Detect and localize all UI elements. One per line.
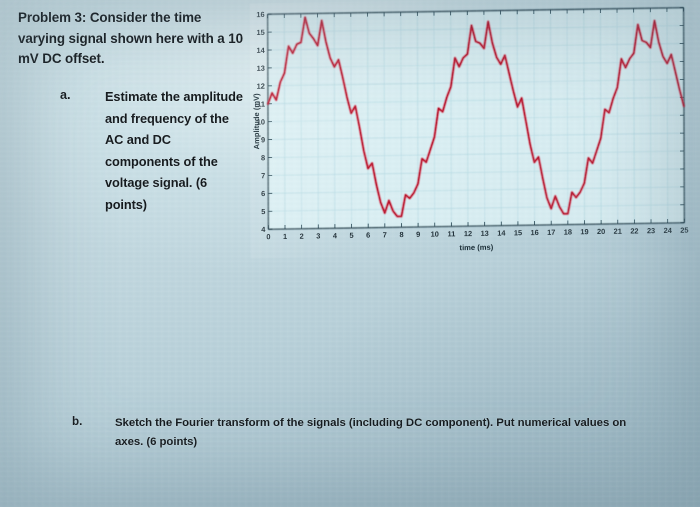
x-tick-label: 18 (564, 227, 572, 236)
x-tick-label: 1 (283, 232, 287, 241)
y-tick-label: 5 (261, 207, 265, 216)
x-tick-label: 2 (300, 232, 304, 241)
y-tick-label: 6 (261, 189, 265, 198)
x-tick-label: 0 (266, 232, 270, 241)
x-tick-label: 10 (431, 230, 439, 239)
x-tick-label: 4 (333, 231, 338, 240)
x-tick-label: 8 (399, 230, 403, 239)
x-tick-label: 24 (664, 226, 673, 235)
y-tick-label: 7 (261, 171, 265, 180)
y-tick-label: 14 (256, 46, 265, 55)
x-tick-label: 20 (597, 227, 605, 236)
x-tick-label: 14 (497, 228, 506, 237)
y-tick-label: 8 (261, 153, 265, 162)
y-tick-label: 16 (256, 10, 264, 19)
x-tick-label: 19 (580, 227, 588, 236)
x-tick-label: 21 (614, 227, 622, 236)
y-axis-title: Amplitude (mV) (252, 93, 261, 150)
y-tick-label: 9 (261, 135, 265, 144)
part-a-text: Estimate the amplitude and frequency of … (105, 86, 245, 215)
x-tick-label: 12 (464, 229, 472, 238)
y-tick-label: 15 (256, 28, 264, 37)
x-tick-label: 17 (547, 228, 555, 237)
part-a-label: a. (60, 88, 71, 102)
x-tick-label: 5 (350, 231, 354, 240)
x-tick-label: 13 (481, 229, 489, 238)
x-tick-label: 7 (383, 230, 387, 239)
x-tick-label: 22 (630, 226, 638, 235)
x-tick-label: 6 (366, 231, 370, 240)
problem-heading: Problem 3: Consider the time varying sig… (18, 8, 250, 70)
x-tick-label: 15 (514, 228, 522, 237)
x-tick-label: 11 (447, 229, 455, 238)
photographed-page: Problem 3: Consider the time varying sig… (0, 0, 700, 507)
part-b-text: Sketch the Fourier transform of the sign… (115, 414, 645, 452)
problem-label: Problem 3: (18, 10, 86, 25)
x-tick-label: 16 (530, 228, 538, 237)
x-tick-label: 23 (647, 226, 655, 235)
y-tick-label: 12 (257, 82, 265, 91)
y-tick-label: 13 (257, 64, 265, 73)
x-axis-title: time (ms) (460, 243, 494, 253)
signal-plot: 0123456789101112131415161718192021222324… (250, 0, 696, 259)
signal-plot-svg: 0123456789101112131415161718192021222324… (250, 0, 696, 259)
part-b-label: b. (72, 415, 82, 428)
x-tick-label: 25 (680, 226, 688, 235)
x-tick-label: 3 (316, 231, 320, 240)
x-tick-label: 9 (416, 230, 420, 239)
